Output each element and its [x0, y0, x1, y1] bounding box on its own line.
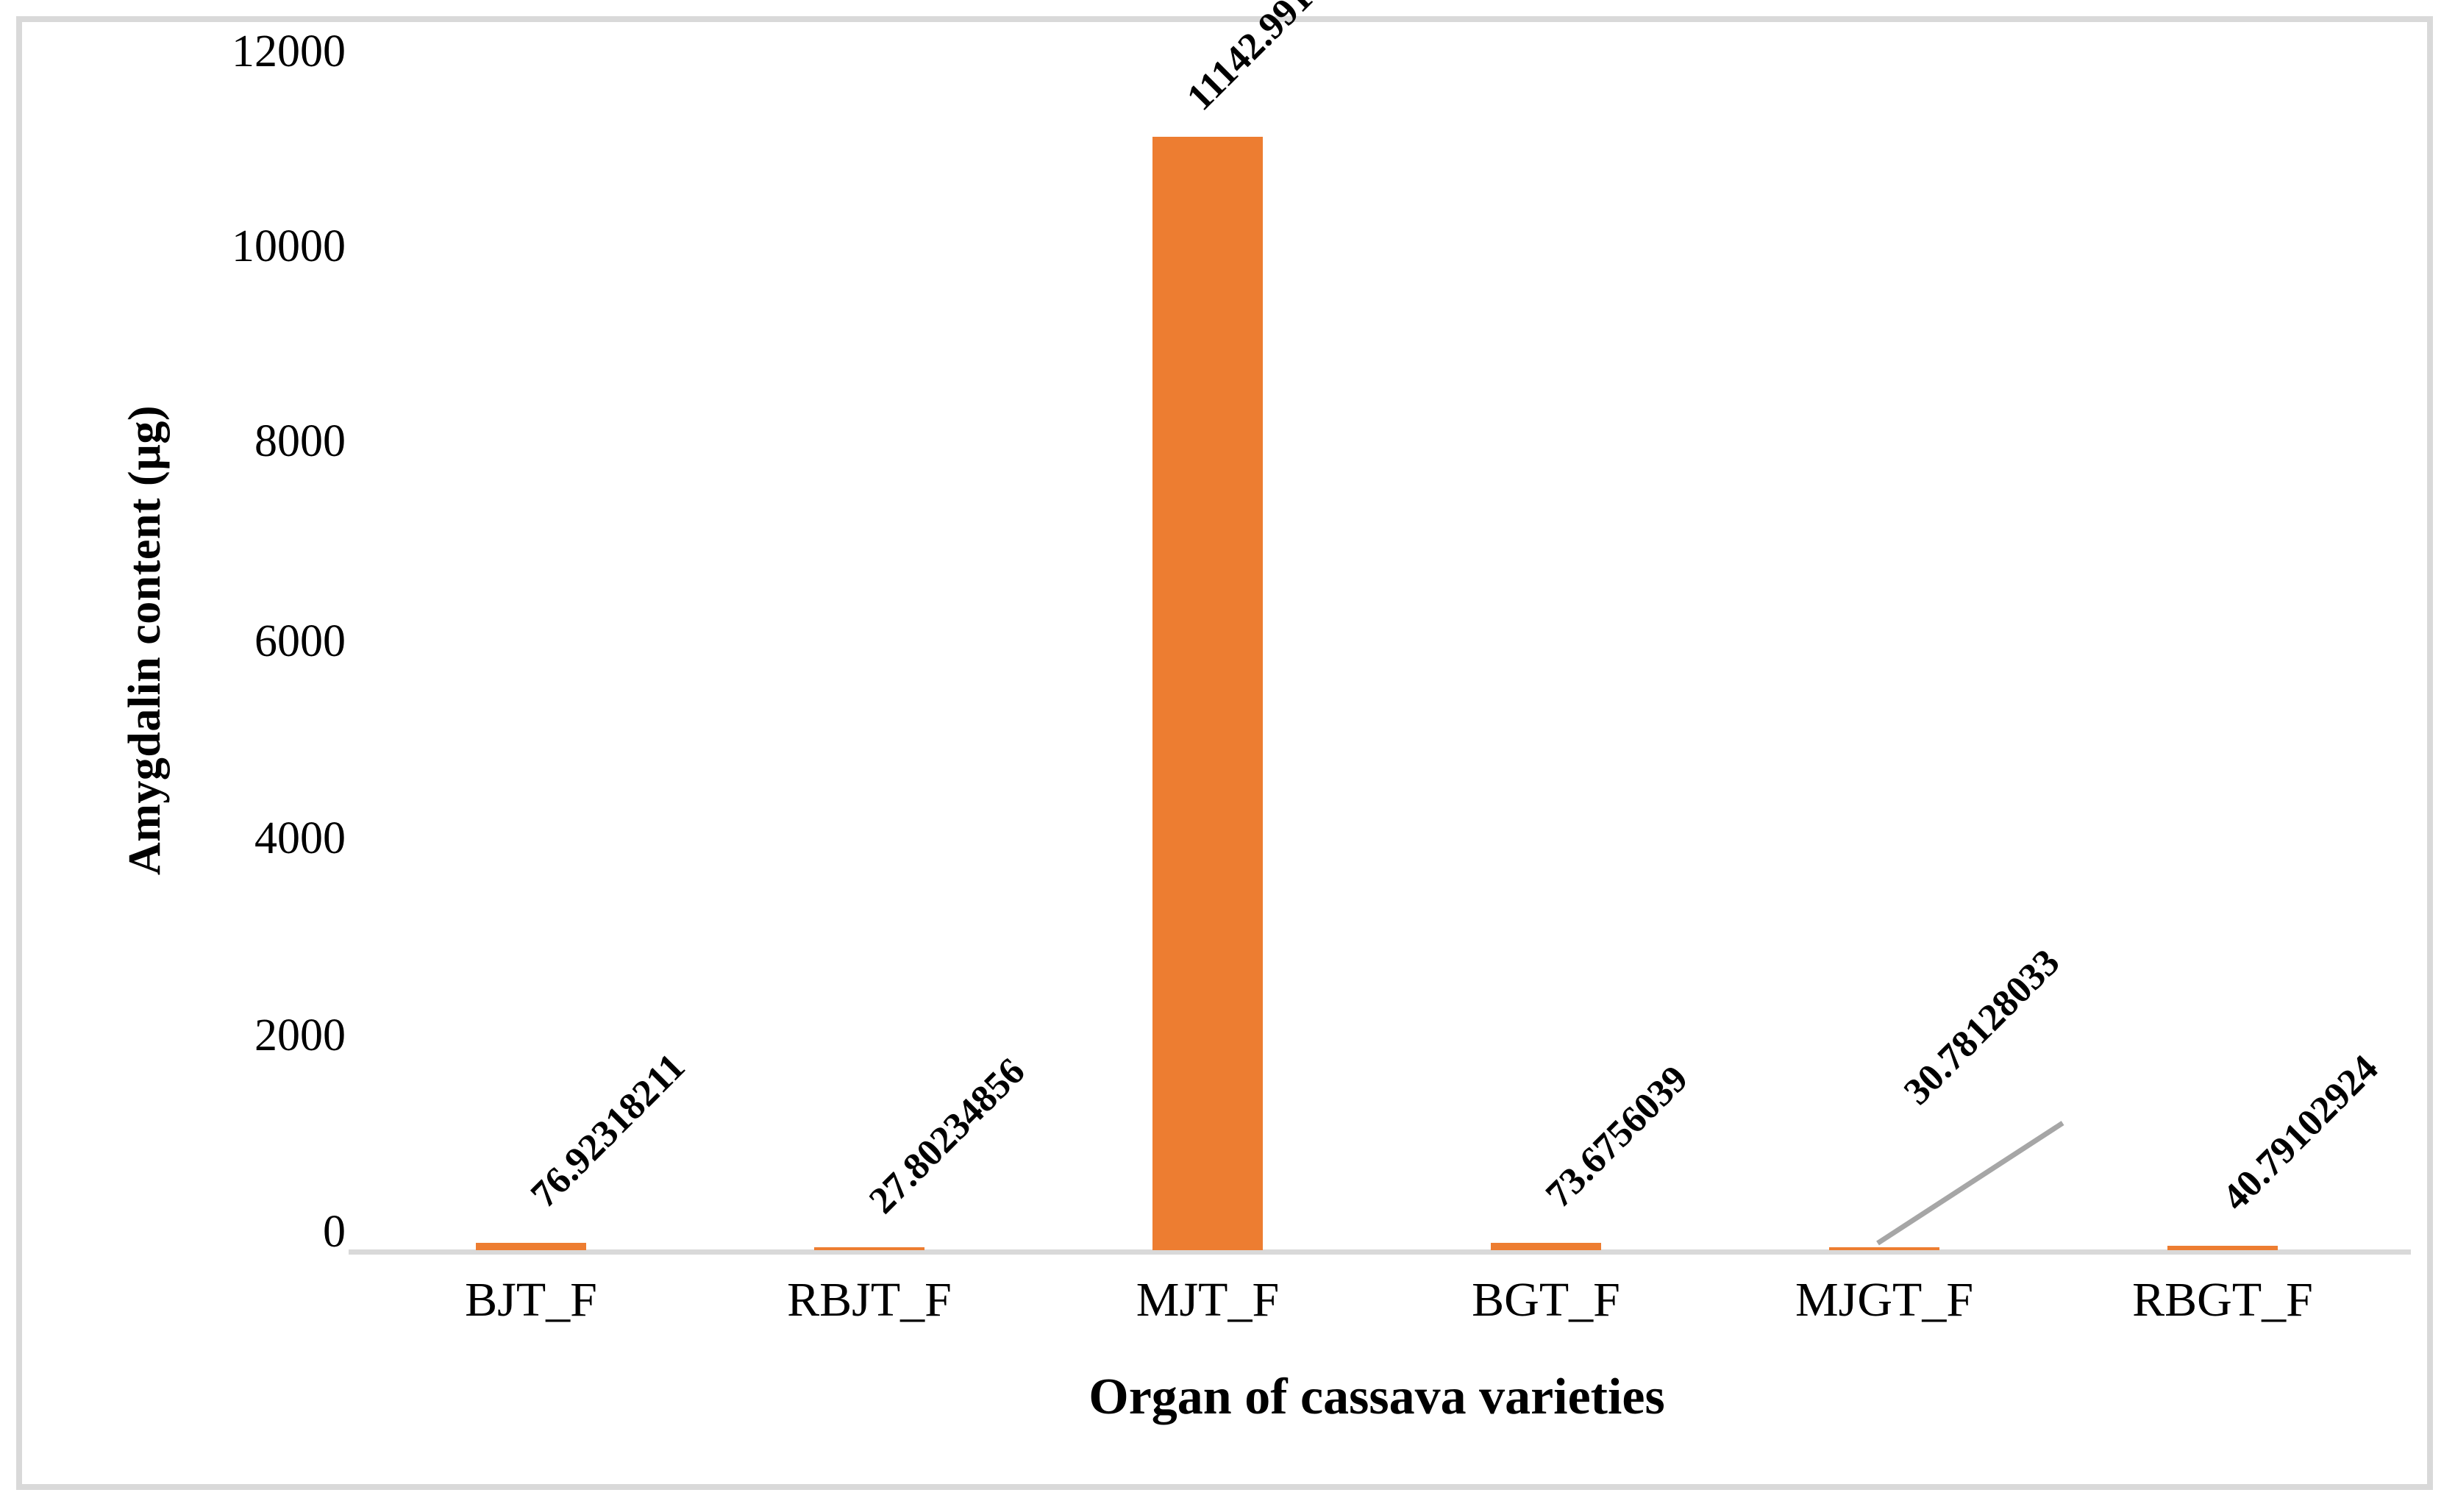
- bar-mjgt-f[interactable]: [1829, 1247, 1939, 1250]
- bar-slot-mjgt-f: 30.78128033: [1715, 51, 2053, 1250]
- bar-mjt-f[interactable]: [1152, 137, 1263, 1250]
- data-label-mjgt-f: 30.78128033: [1898, 943, 2067, 1112]
- x-tick-label-rbgt-f: RBGT_F: [2053, 1272, 2392, 1346]
- chart-page: Amygdalin content (µg) 12000 10000 8000 …: [0, 0, 2455, 1512]
- y-tick-label: 2000: [254, 1013, 346, 1058]
- y-tick-label: 6000: [254, 618, 346, 664]
- x-axis-title: Organ of cassava varieties: [362, 1368, 2392, 1427]
- data-label-bjt-f: 76.92318211: [524, 1047, 692, 1215]
- chart-border-frame: Amygdalin content (µg) 12000 10000 8000 …: [16, 16, 2433, 1490]
- x-axis-tick-labels: BJT_F RBJT_F MJT_F BGT_F MJGT_F RBGT_F: [362, 1272, 2392, 1346]
- data-label-rbjt-f: 27.80234856: [863, 1052, 1032, 1221]
- y-tick-label: 0: [323, 1209, 346, 1255]
- bar-rbgt-f[interactable]: [2167, 1246, 2278, 1250]
- bar-chart: Amygdalin content (µg) 12000 10000 8000 …: [22, 22, 2427, 1484]
- y-tick-label: 8000: [254, 418, 346, 464]
- x-tick-label-bgt-f: BGT_F: [1377, 1272, 1715, 1346]
- bar-slot-rbgt-f: 40.79102924: [2053, 51, 2392, 1250]
- leader-line: [1876, 1121, 2064, 1245]
- bar-bjt-f[interactable]: [476, 1243, 586, 1250]
- plot-area: 76.92318211 27.80234856 11142.99137 73.6…: [362, 51, 2392, 1250]
- x-tick-label-mjgt-f: MJGT_F: [1715, 1272, 2053, 1346]
- x-tick-label-mjt-f: MJT_F: [1038, 1272, 1377, 1346]
- data-label-bgt-f: 73.6756039: [1539, 1060, 1695, 1215]
- bar-slot-mjt-f: 11142.99137: [1038, 51, 1377, 1250]
- bar-rbjt-f[interactable]: [814, 1247, 924, 1250]
- y-tick-label: 10000: [232, 224, 346, 269]
- bar-bgt-f[interactable]: [1491, 1243, 1601, 1250]
- bar-slot-bjt-f: 76.92318211: [362, 51, 700, 1250]
- bar-series: 76.92318211 27.80234856 11142.99137 73.6…: [362, 51, 2392, 1250]
- x-tick-label-bjt-f: BJT_F: [362, 1272, 700, 1346]
- data-label-mjt-f: 11142.99137: [1180, 0, 1347, 118]
- x-axis-line: [349, 1249, 2411, 1255]
- y-tick-label: 4000: [254, 816, 346, 861]
- bar-slot-rbjt-f: 27.80234856: [700, 51, 1038, 1250]
- y-tick-label: 12000: [232, 29, 346, 74]
- y-axis-tick-labels: 12000 10000 8000 6000 4000 2000 0: [154, 22, 346, 1258]
- x-tick-label-rbjt-f: RBJT_F: [700, 1272, 1038, 1346]
- bar-slot-bgt-f: 73.6756039: [1377, 51, 1715, 1250]
- data-label-rbgt-f: 40.79102924: [2216, 1049, 2385, 1218]
